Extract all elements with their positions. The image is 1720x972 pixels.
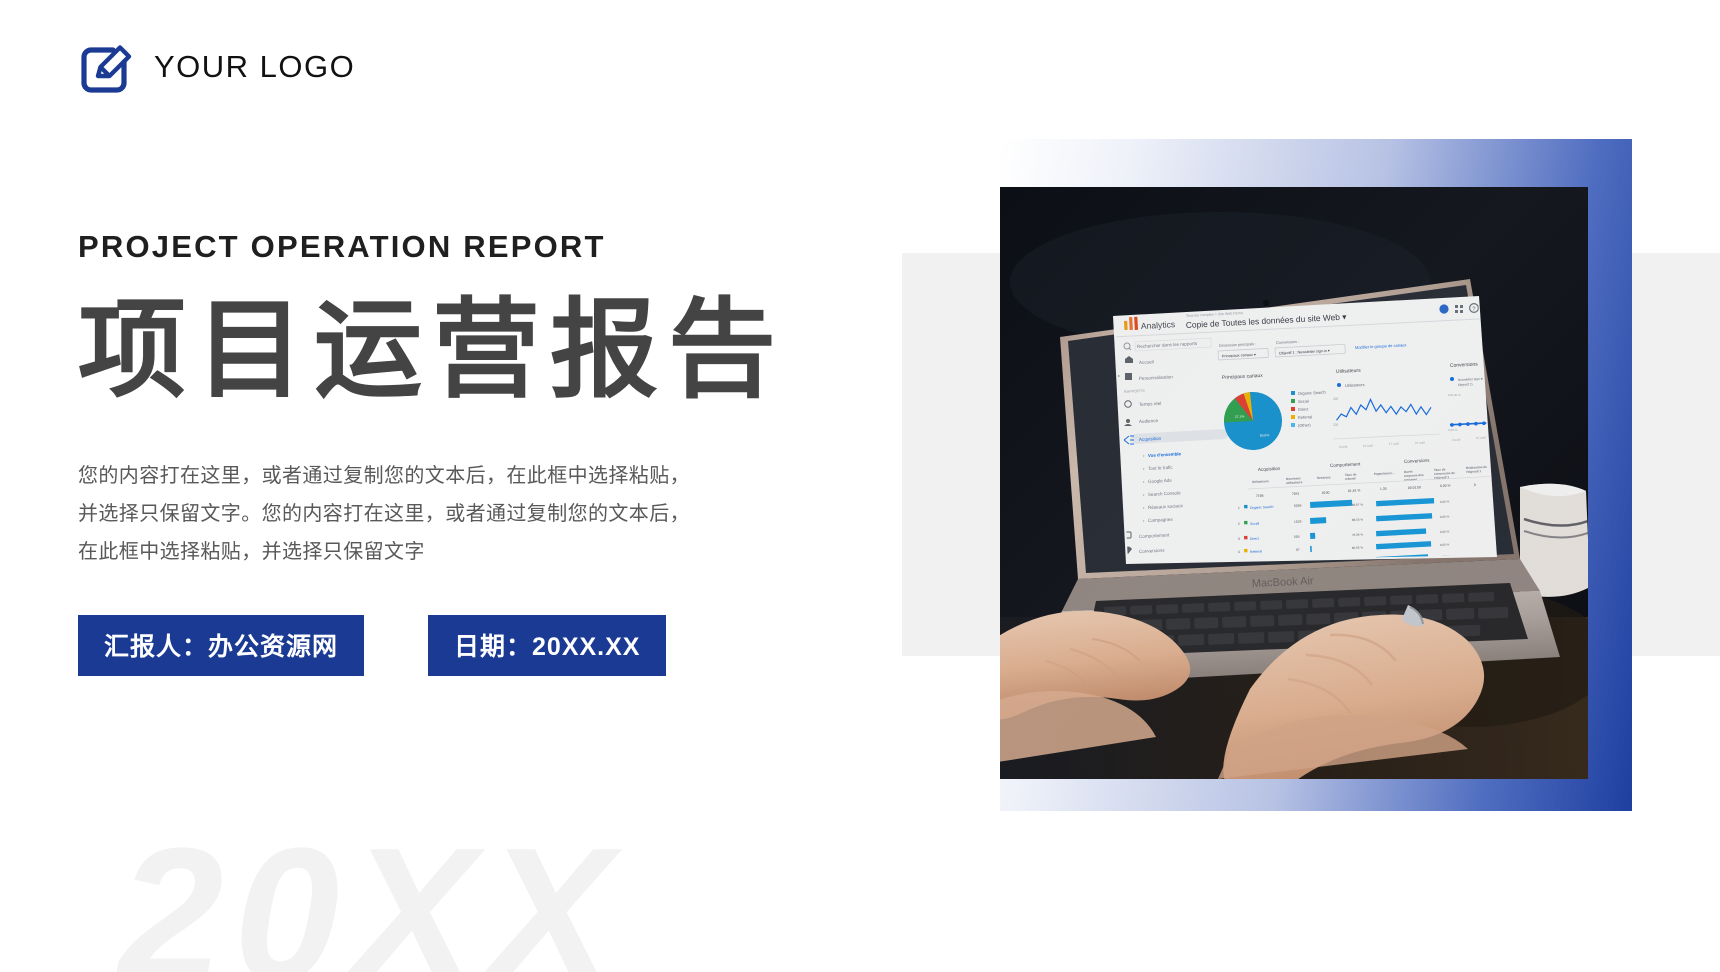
eyebrow-title: PROJECT OPERATION REPORT <box>78 230 838 264</box>
hero-paragraph: 您的内容打在这里，或者通过复制您的文本后，在此框中选择粘贴， 并选择只保留文字。… <box>78 457 718 571</box>
hero-photo-laptop-analytics: Analytics Tous les comptes > Site Web De… <box>1000 187 1588 779</box>
date-badge[interactable]: 日期：20XX.XX <box>428 615 666 676</box>
hero-text-block: PROJECT OPERATION REPORT 项目运营报告 您的内容打在这里… <box>78 230 838 676</box>
hero-paragraph-line: 您的内容打在这里，或者通过复制您的文本后，在此框中选择粘贴， <box>78 457 718 495</box>
meta-badge-row: 汇报人：办公资源网 日期：20XX.XX <box>78 615 838 676</box>
edit-pencil-square-icon <box>78 38 136 96</box>
presentation-cover-slide: 20XX <box>0 0 1720 972</box>
brand-logo[interactable]: YOUR LOGO <box>78 38 355 96</box>
presenter-badge[interactable]: 汇报人：办公资源网 <box>78 615 364 676</box>
hero-paragraph-line: 在此框中选择粘贴，并选择只保留文字 <box>78 533 718 571</box>
logo-text: YOUR LOGO <box>154 49 355 85</box>
page-title: 项目运营报告 <box>78 290 838 411</box>
hero-paragraph-line: 并选择只保留文字。您的内容打在这里，或者通过复制您的文本后， <box>78 495 718 533</box>
year-watermark: 20XX <box>118 820 623 972</box>
